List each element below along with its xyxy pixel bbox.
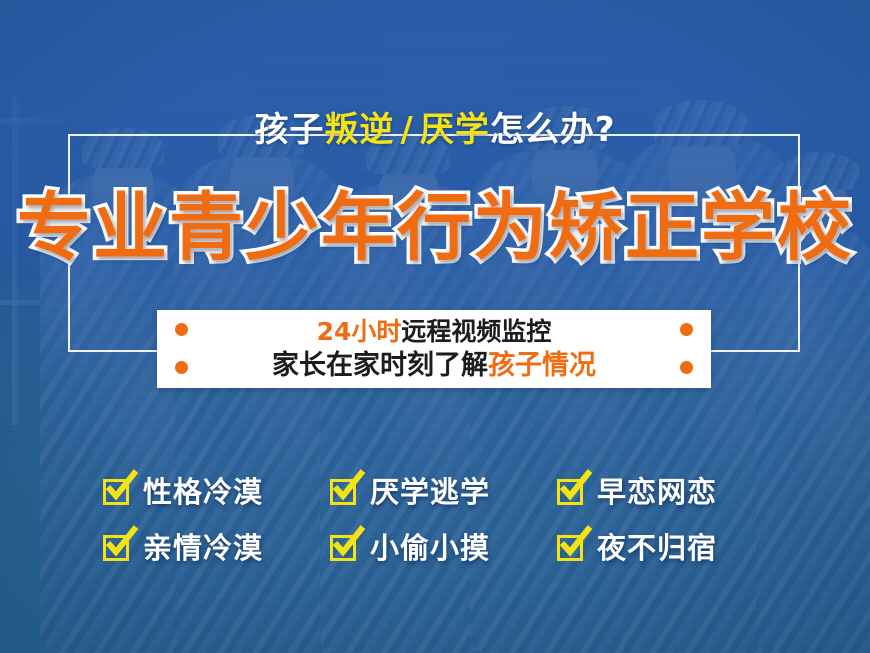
info-panel-line-1: 24小时远程视频监控 <box>157 315 711 349</box>
checklist-row: 性格冷漠 厌学逃学 早恋网恋 <box>103 464 763 520</box>
checklist-item-label: 亲情冷漠 <box>143 531 263 565</box>
info-panel-highlight-2: 孩子情况 <box>488 350 596 381</box>
checklist-item[interactable]: 早恋网恋 <box>557 475 717 509</box>
checklist-item[interactable]: 厌学逃学 <box>330 475 557 509</box>
symptom-checklist: 性格冷漠 厌学逃学 早恋网恋 <box>103 464 763 576</box>
kicker-highlight-1: 叛逆 <box>324 110 394 150</box>
promo-banner: 孩子叛逆/厌学怎么办? 专业青少年行为矫正学校 24小时远程视频监控 家长在家时… <box>0 0 870 653</box>
kicker-pre: 孩子 <box>254 110 324 150</box>
checklist-item-label: 早恋网恋 <box>597 475 717 509</box>
checklist-item[interactable]: 性格冷漠 <box>103 475 330 509</box>
checklist-item-label: 厌学逃学 <box>370 475 490 509</box>
checkbox-checked-icon[interactable] <box>103 479 129 505</box>
info-panel-text-1: 远程视频监控 <box>401 317 551 346</box>
checklist-item[interactable]: 夜不归宿 <box>557 531 717 565</box>
kicker-slash: / <box>394 110 419 150</box>
checkbox-checked-icon[interactable] <box>103 535 129 561</box>
kicker-highlight-2: 厌学 <box>420 110 490 150</box>
checklist-item-label: 小偷小摸 <box>370 531 490 565</box>
checkbox-checked-icon[interactable] <box>557 479 583 505</box>
kicker-text: 孩子叛逆/厌学怎么办? <box>0 108 870 152</box>
info-panel-highlight-1: 24小时 <box>317 317 402 346</box>
checkbox-checked-icon[interactable] <box>557 535 583 561</box>
checklist-row: 亲情冷漠 小偷小摸 夜不归宿 <box>103 520 763 576</box>
info-panel-line-2: 家长在家时刻了解孩子情况 <box>157 349 711 383</box>
info-panel-text-2: 家长在家时刻了解 <box>272 350 488 381</box>
banner-content: 孩子叛逆/厌学怎么办? 专业青少年行为矫正学校 24小时远程视频监控 家长在家时… <box>0 0 870 653</box>
kicker-post: 怎么办? <box>490 110 616 150</box>
page-title: 专业青少年行为矫正学校 <box>0 182 870 274</box>
checklist-item-label: 夜不归宿 <box>597 531 717 565</box>
checklist-item[interactable]: 小偷小摸 <box>330 531 557 565</box>
checklist-item[interactable]: 亲情冷漠 <box>103 531 330 565</box>
checkbox-checked-icon[interactable] <box>330 535 356 561</box>
checkbox-checked-icon[interactable] <box>330 479 356 505</box>
info-panel: 24小时远程视频监控 家长在家时刻了解孩子情况 <box>157 310 711 388</box>
checklist-item-label: 性格冷漠 <box>143 475 263 509</box>
